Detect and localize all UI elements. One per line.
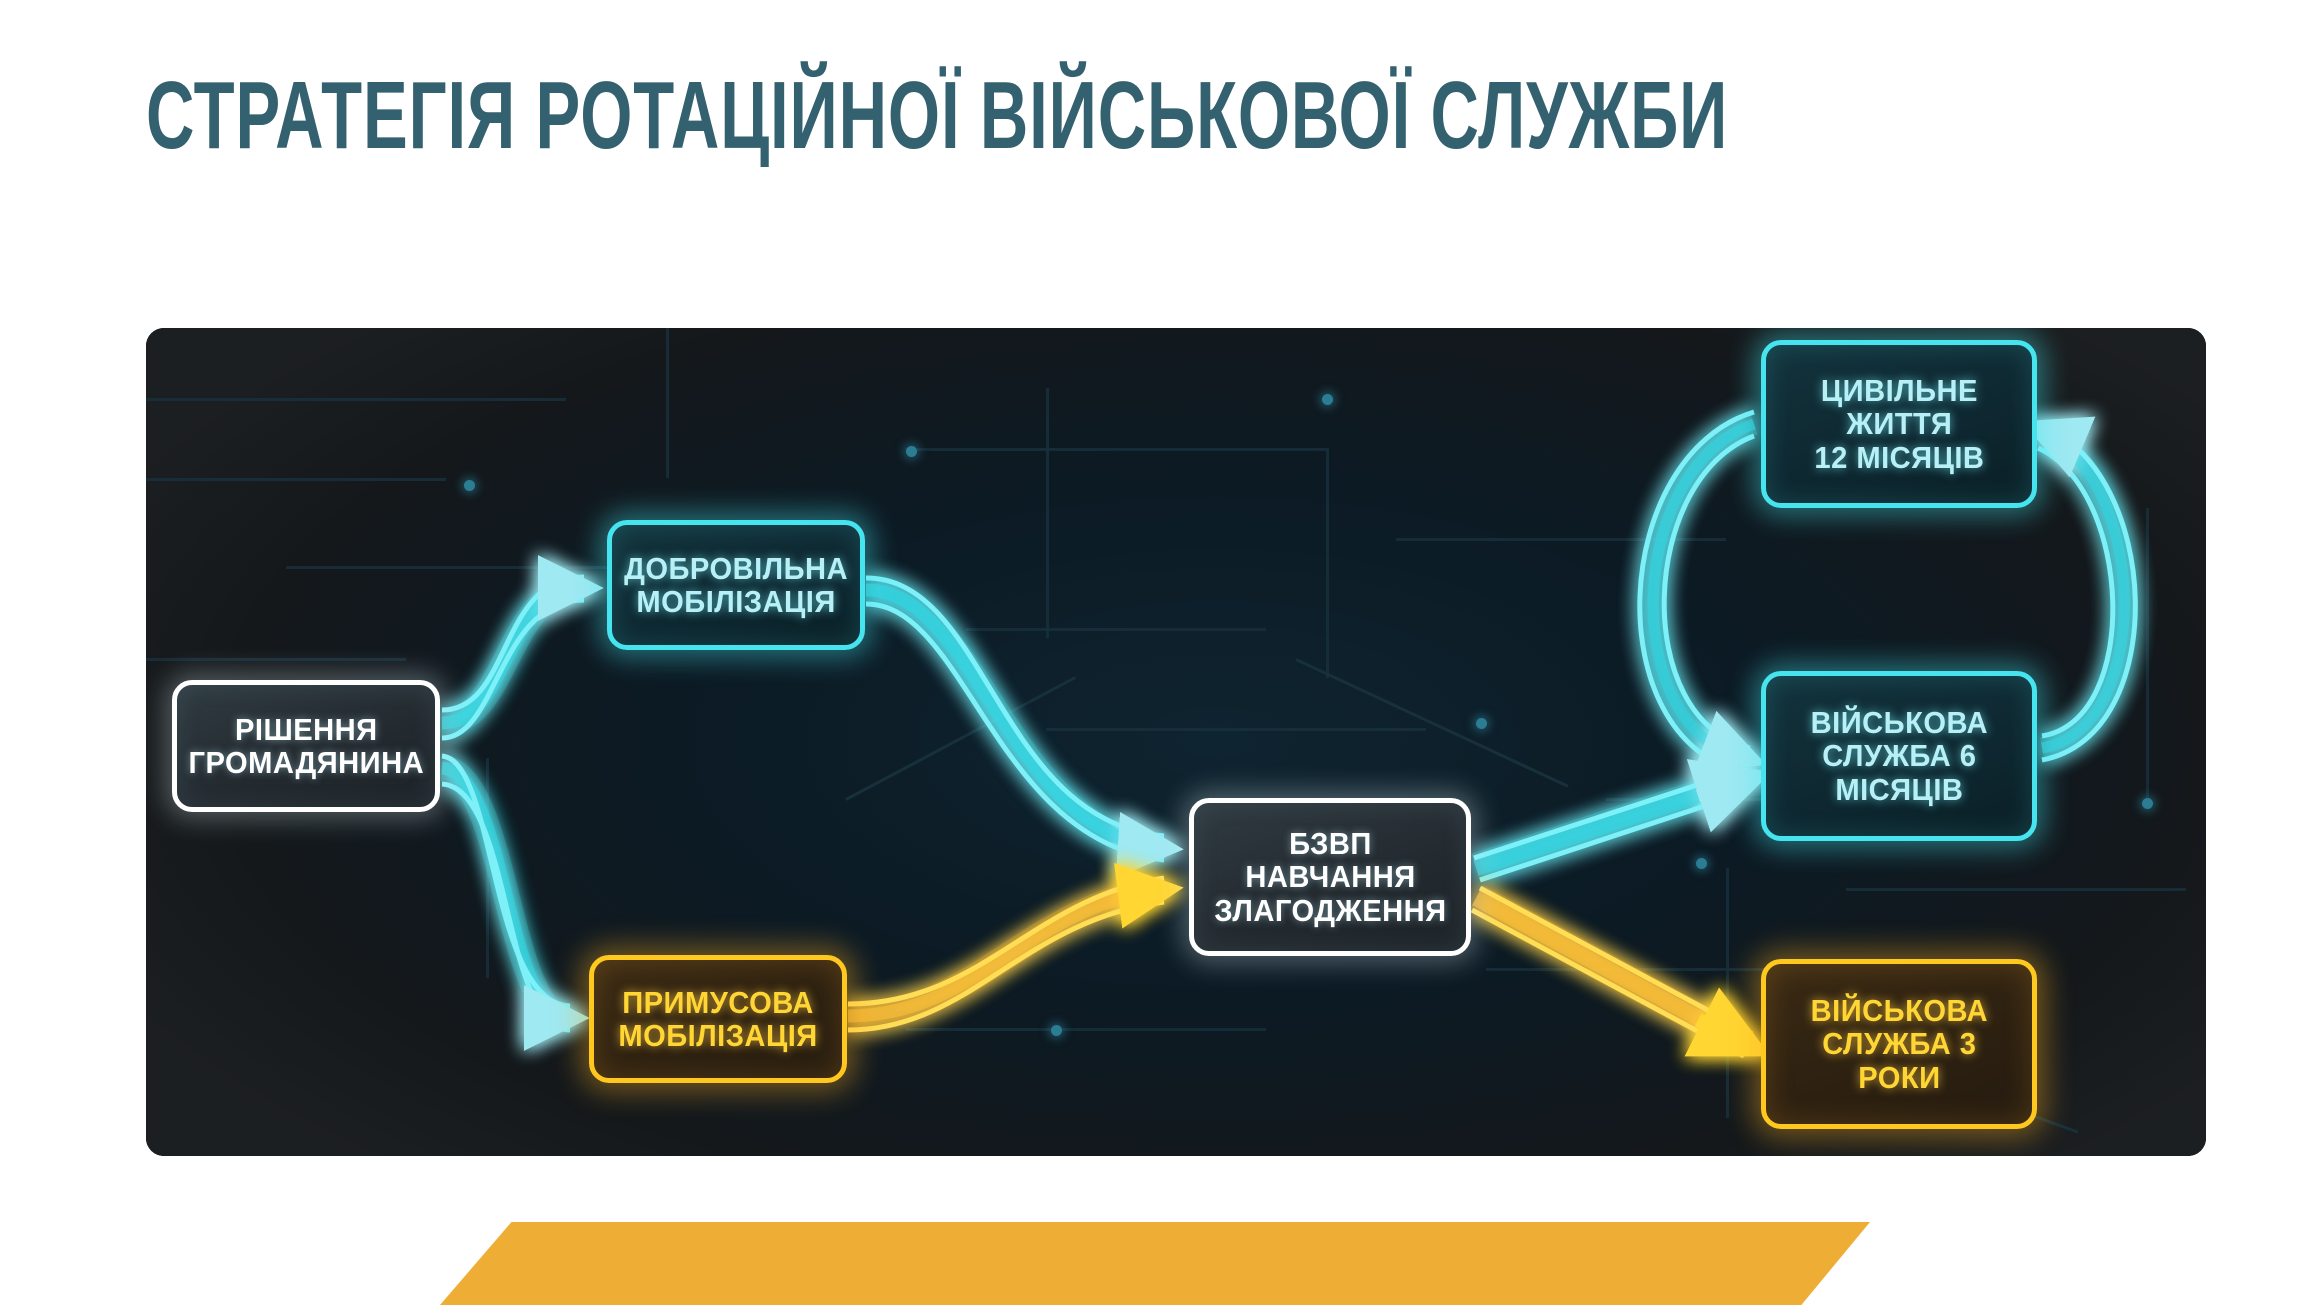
node-bzvp-label: БЗВП НАВЧАННЯ ЗЛАГОДЖЕННЯ: [1214, 827, 1446, 927]
node-forced-label: ПРИМУСОВА МОБІЛІЗАЦІЯ: [618, 986, 817, 1053]
node-civil-label: ЦИВІЛЬНЕ ЖИТТЯ 12 МІСЯЦІВ: [1814, 374, 1984, 474]
node-civilian-life[interactable]: ЦИВІЛЬНЕ ЖИТТЯ 12 МІСЯЦІВ: [1761, 340, 2037, 508]
page-title: СТРАТЕГІЯ РОТАЦІЙНОЇ ВІЙСЬКОВОЇ СЛУЖБИ: [146, 60, 1728, 171]
node-decision[interactable]: РІШЕННЯ ГРОМАДЯНИНА: [172, 680, 440, 812]
node-voluntary-label: ДОБРОВІЛЬНА МОБІЛІЗАЦІЯ: [624, 552, 848, 619]
diagram-board: РІШЕННЯ ГРОМАДЯНИНА ДОБРОВІЛЬНА МОБІЛІЗА…: [146, 328, 2206, 1156]
node-military-service-6-months[interactable]: ВІЙСЬКОВА СЛУЖБА 6 МІСЯЦІВ: [1761, 671, 2037, 841]
node-decision-label: РІШЕННЯ ГРОМАДЯНИНА: [188, 713, 424, 780]
footer-accent-bar: [0, 1222, 2320, 1305]
footer-parallelogram: [440, 1222, 1870, 1305]
node-bzvp-training[interactable]: БЗВП НАВЧАННЯ ЗЛАГОДЖЕННЯ: [1189, 798, 1471, 956]
node-forced-mobilization[interactable]: ПРИМУСОВА МОБІЛІЗАЦІЯ: [589, 955, 847, 1083]
node-military-service-3-years[interactable]: ВІЙСЬКОВА СЛУЖБА 3 РОКИ: [1761, 959, 2037, 1129]
node-voluntary-mobilization[interactable]: ДОБРОВІЛЬНА МОБІЛІЗАЦІЯ: [607, 520, 865, 650]
node-service3-label: ВІЙСЬКОВА СЛУЖБА 3 РОКИ: [1810, 994, 1987, 1094]
edge-voluntary-to-bzvp: [866, 590, 1158, 848]
node-service6-label: ВІЙСЬКОВА СЛУЖБА 6 МІСЯЦІВ: [1810, 706, 1987, 806]
